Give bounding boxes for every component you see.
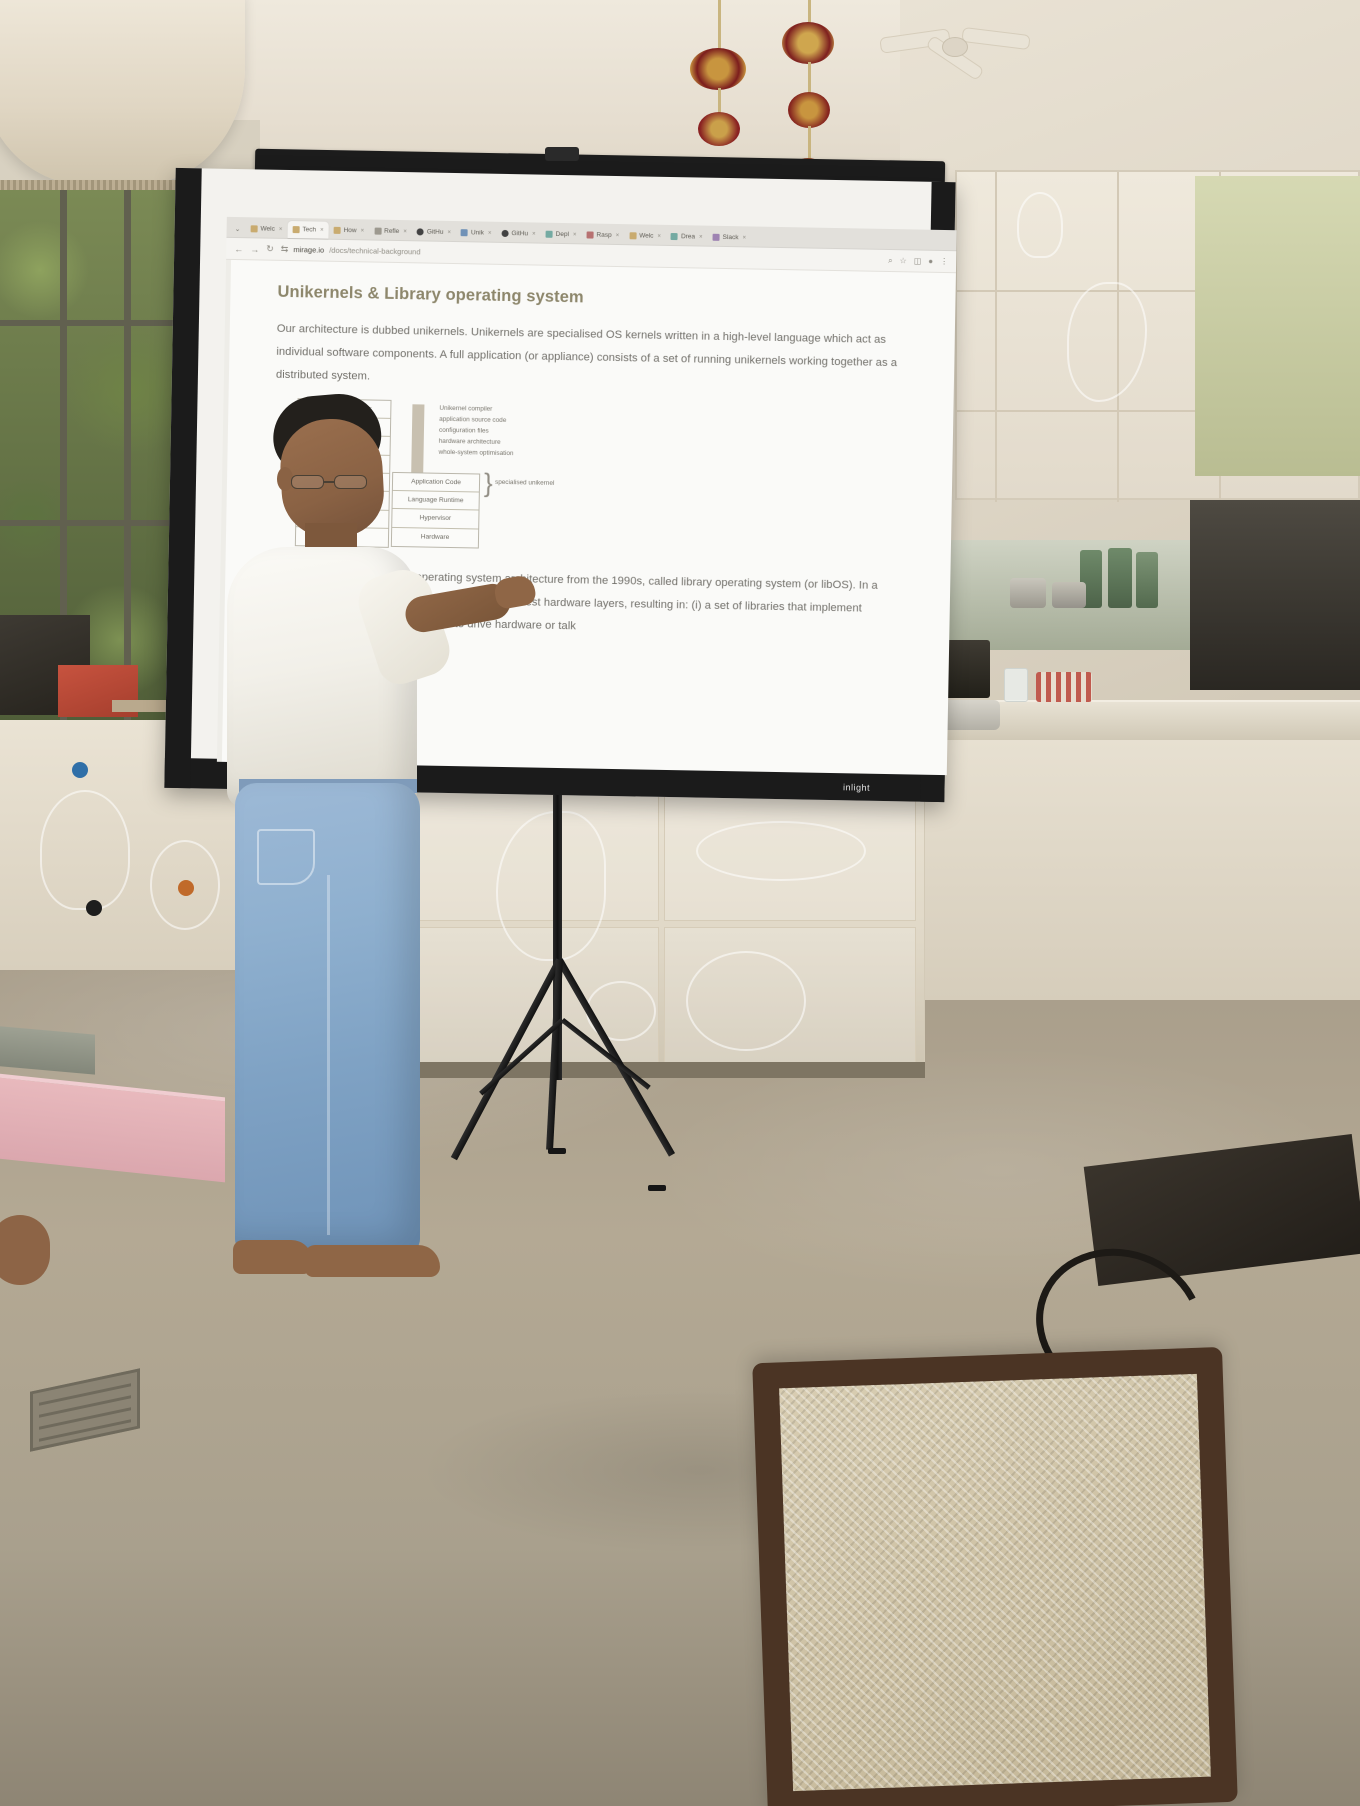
hanging-ornament xyxy=(782,22,834,64)
seated-person-leg xyxy=(0,1215,50,1285)
close-icon[interactable]: × xyxy=(532,231,536,237)
browser-tab[interactable]: Welc × xyxy=(624,227,666,245)
bare-foot xyxy=(305,1245,440,1277)
url-path: /docs/technical-background xyxy=(329,246,420,257)
tab-label: Refle xyxy=(384,228,399,235)
close-icon[interactable]: × xyxy=(361,228,365,234)
browser-tab[interactable]: Unik × xyxy=(456,224,497,242)
close-icon[interactable]: × xyxy=(447,229,451,235)
close-icon[interactable]: × xyxy=(279,226,283,232)
github-icon xyxy=(501,230,508,237)
mirage-icon xyxy=(292,226,299,233)
close-icon[interactable]: × xyxy=(657,233,661,239)
close-icon[interactable]: × xyxy=(573,232,577,238)
photo-scene: inlight ⌄ Welc × Tech × xyxy=(0,0,1360,1806)
screen-mount xyxy=(545,147,579,161)
hanging-ornament xyxy=(788,92,830,128)
page-title: Unikernels & Library operating system xyxy=(277,283,909,314)
browser-tab[interactable]: Drea × xyxy=(666,228,708,246)
pot xyxy=(1010,578,1046,608)
close-icon[interactable]: × xyxy=(616,232,620,238)
lower-cabinets xyxy=(900,740,1360,1000)
screen-brand-label: inlight xyxy=(828,780,884,795)
site-info-icon[interactable]: ⇆ xyxy=(281,244,289,255)
browser-tab[interactable]: Rasp × xyxy=(581,226,624,244)
tab-label: GitHu xyxy=(511,230,528,237)
eyeglasses xyxy=(291,475,379,489)
tripod-foot xyxy=(648,1185,666,1191)
cabinet-knob[interactable] xyxy=(178,880,194,896)
presenter xyxy=(195,395,525,1310)
glass xyxy=(1004,668,1028,702)
mirage-icon xyxy=(250,225,257,232)
jeans-pocket xyxy=(257,829,315,885)
tab-label: Slack xyxy=(723,234,739,241)
slack-icon xyxy=(713,234,720,241)
tab-label: Depl xyxy=(556,231,570,238)
omnibar-actions[interactable]: ⌕ ☆ ◫ ● ⋮ xyxy=(888,255,948,266)
browser-tab-active[interactable]: Tech × xyxy=(287,221,329,239)
ceiling-fan-icon xyxy=(880,15,1030,75)
github-icon xyxy=(417,228,424,235)
cabinet-knob[interactable] xyxy=(72,762,88,778)
cane-chair xyxy=(752,1347,1238,1806)
profile-avatar-icon[interactable]: ● xyxy=(928,257,933,266)
raspberry-icon xyxy=(586,231,593,238)
bottle xyxy=(1136,552,1158,608)
zoom-icon[interactable]: ⌕ xyxy=(888,255,893,265)
reload-icon[interactable]: ↻ xyxy=(266,244,274,255)
split-view-icon[interactable]: ◫ xyxy=(914,256,922,265)
green-upper-cabinet xyxy=(1195,176,1360,476)
close-icon[interactable]: × xyxy=(699,234,703,240)
mirage-icon xyxy=(629,232,636,239)
cabinet-etching xyxy=(40,790,130,910)
mirage-icon xyxy=(334,227,341,234)
close-icon[interactable]: × xyxy=(488,230,492,236)
tab-label: Welc xyxy=(260,225,274,232)
cloud-icon xyxy=(546,231,553,238)
close-icon[interactable]: × xyxy=(320,227,324,233)
tab-label: Unik xyxy=(471,229,484,236)
browser-tab[interactable]: How × xyxy=(328,222,369,240)
hanging-decor-string xyxy=(808,62,811,96)
bottle xyxy=(1108,548,1132,608)
close-icon[interactable]: × xyxy=(742,235,746,241)
tripod-foot xyxy=(548,1148,566,1154)
tab-label: Drea xyxy=(681,233,695,240)
page-paragraph-1: Our architecture is dubbed unikernels. U… xyxy=(276,318,909,398)
back-icon[interactable]: ← xyxy=(234,243,243,253)
url-host: mirage.io xyxy=(293,245,324,255)
tab-label: Rasp xyxy=(596,232,611,239)
browser-tab[interactable]: Slack × xyxy=(707,229,751,247)
bookmark-star-icon[interactable]: ☆ xyxy=(900,256,907,265)
menu-kebab-icon[interactable]: ⋮ xyxy=(940,257,948,266)
grey-mat xyxy=(0,1025,95,1074)
doc-icon xyxy=(461,229,468,236)
dark-appliance xyxy=(1190,500,1360,690)
tab-label: Tech xyxy=(302,226,316,233)
blue-jeans xyxy=(235,783,420,1253)
tab-label: How xyxy=(344,227,357,234)
browser-tab[interactable]: GitHu × xyxy=(496,225,540,243)
forward-icon[interactable]: → xyxy=(250,244,259,254)
browser-tab[interactable]: Refle × xyxy=(369,222,412,240)
browser-tab[interactable]: Welc × xyxy=(245,220,287,238)
tab-search-caret-icon[interactable]: ⌄ xyxy=(232,225,245,237)
browser-tab[interactable]: GitHu × xyxy=(412,223,456,241)
close-icon[interactable]: × xyxy=(403,229,407,235)
tab-label: Welc xyxy=(639,232,653,239)
browser-tab[interactable]: Depl × xyxy=(540,226,581,244)
pot xyxy=(1052,582,1086,608)
hanging-ornament xyxy=(690,48,746,90)
cloth xyxy=(1036,672,1092,702)
tab-label: GitHu xyxy=(427,229,444,236)
cloud-icon xyxy=(671,233,678,240)
hanging-ornament xyxy=(698,112,740,146)
book-icon xyxy=(374,228,381,235)
bare-foot xyxy=(233,1240,313,1274)
cabinet-knob[interactable] xyxy=(86,900,102,916)
